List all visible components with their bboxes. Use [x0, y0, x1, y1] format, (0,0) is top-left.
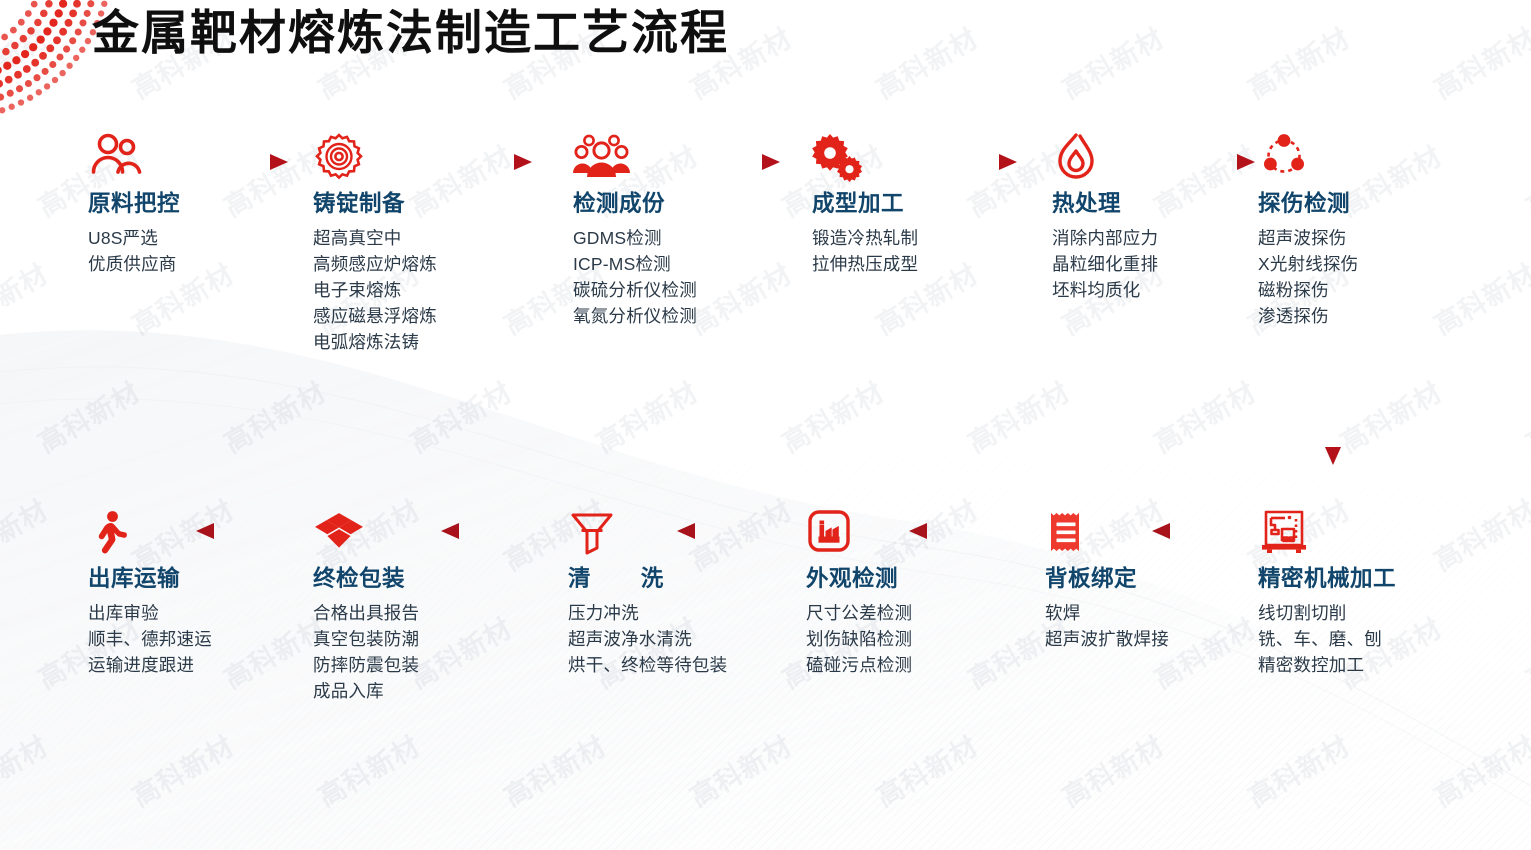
- step-detail: 超高真空中: [313, 226, 523, 252]
- step-cleaning[interactable]: 清 洗 压力冲洗 超声波净水清洗 烘干、终检等待包装: [568, 505, 778, 679]
- step-detail: 电子束熔炼: [313, 278, 523, 304]
- step-detail: 真空包装防潮: [313, 627, 523, 653]
- step-backplate-bonding[interactable]: 背板绑定 软焊 超声波扩散焊接: [1045, 505, 1255, 653]
- step-detail: 压力冲洗: [568, 601, 730, 627]
- step-title: 铸锭制备: [313, 190, 523, 217]
- walking-person-icon: [88, 505, 298, 557]
- step-detail: 感应磁悬浮熔炼: [313, 304, 523, 330]
- step-detail: 超声波扩散焊接: [1045, 627, 1255, 653]
- step-outbound-shipping[interactable]: 出库运输 出库审验 顺丰、德邦速运 运输进度跟进: [88, 505, 298, 679]
- step-title: 背板绑定: [1045, 565, 1255, 592]
- cnc-machine-icon: [1258, 505, 1468, 557]
- step-detail: 优质供应商: [88, 252, 298, 278]
- step-detail: 磕碰污点检测: [806, 653, 1016, 679]
- step-detail: 铣、车、磨、刨: [1258, 627, 1468, 653]
- step-detail: 划伤缺陷检测: [806, 627, 1016, 653]
- step-title: 成型加工: [812, 190, 1022, 217]
- step-flaw-detection[interactable]: 探伤检测 超声波探伤 X光射线探伤 磁粉探伤 渗透探伤: [1258, 130, 1468, 330]
- step-precision-machining[interactable]: 精密机械加工 线切割切削 铣、车、磨、刨 精密数控加工: [1258, 505, 1468, 679]
- step-detail: 精密数控加工: [1258, 653, 1468, 679]
- step-title: 精密机械加工: [1258, 565, 1468, 592]
- funnel-icon: [568, 505, 778, 557]
- step-detail: 高频感应炉熔炼: [313, 252, 523, 278]
- step-detail-list: 线切割切削 铣、车、磨、刨 精密数控加工: [1258, 601, 1468, 679]
- step-detail-list: 锻造冷热轧制 拉伸热压成型: [812, 226, 1022, 278]
- step-final-inspection-packaging[interactable]: 终检包装 合格出具报告 真空包装防潮 防摔防震包装 成品入库: [313, 505, 523, 705]
- step-title: 终检包装: [313, 565, 523, 592]
- step-detail: 电弧熔炼法铸: [313, 330, 523, 356]
- receipt-icon: [1045, 505, 1255, 557]
- step-title: 外观检测: [806, 565, 1016, 592]
- step-detail: 消除内部应力: [1052, 226, 1262, 252]
- arrow-right-3: [688, 150, 784, 174]
- arrow-right-1: [196, 150, 292, 174]
- step-detail: 超声波探伤: [1258, 226, 1468, 252]
- step-detail-list: 超高真空中 高频感应炉熔炼 电子束熔炼 感应磁悬浮熔炼 电弧熔炼法铸: [313, 226, 523, 355]
- step-detail: GDMS检测: [573, 226, 783, 252]
- arrow-right-4: [925, 150, 1021, 174]
- step-detail-list: 消除内部应力 晶粒细化重排 坯料均质化: [1052, 226, 1262, 304]
- step-title: 出库运输: [88, 565, 298, 592]
- step-detail: 碳硫分析仪检测: [573, 278, 783, 304]
- step-detail-list: U8S严选 优质供应商: [88, 226, 298, 278]
- step-detail: 运输进度跟进: [88, 653, 298, 679]
- open-box-icon: [313, 505, 523, 557]
- page-title: 金属靶材熔炼法制造工艺流程: [92, 6, 729, 62]
- step-detail-list: 尺寸公差检测 划伤缺陷检测 磕碰污点检测: [806, 601, 1016, 679]
- step-detail-list: 出库审验 顺丰、德邦速运 运输进度跟进: [88, 601, 298, 679]
- step-detail: 顺丰、德邦速运: [88, 627, 298, 653]
- step-detail: 软焊: [1045, 601, 1255, 627]
- step-detail: 成品入库: [313, 679, 523, 705]
- step-appearance-inspection[interactable]: 外观检测 尺寸公差检测 划伤缺陷检测 磕碰污点检测: [806, 505, 1016, 679]
- step-detail: 出库审验: [88, 601, 298, 627]
- step-detail: 防摔防震包装: [313, 653, 523, 679]
- step-detail: 线切割切削: [1258, 601, 1468, 627]
- step-detail: 烘干、终检等待包装: [568, 653, 730, 679]
- step-detail-list: 合格出具报告 真空包装防潮 防摔防震包装 成品入库: [313, 601, 523, 705]
- step-detail-list: GDMS检测 ICP-MS检测 碳硫分析仪检测 氧氮分析仪检测: [573, 226, 783, 330]
- step-detail: 尺寸公差检测: [806, 601, 1016, 627]
- step-title: 原料把控: [88, 190, 298, 217]
- step-title: 检测成份: [573, 190, 783, 217]
- step-detail: 氧氮分析仪检测: [573, 304, 783, 330]
- step-detail-list: 软焊 超声波扩散焊接: [1045, 601, 1255, 653]
- step-detail: 拉伸热压成型: [812, 252, 1022, 278]
- step-detail: 坯料均质化: [1052, 278, 1262, 304]
- step-detail-list: 压力冲洗 超声波净水清洗 烘干、终检等待包装: [568, 601, 730, 679]
- three-nodes-icon: [1258, 130, 1468, 182]
- arrow-down-connector: [1321, 373, 1345, 468]
- step-detail: 磁粉探伤: [1258, 278, 1468, 304]
- step-detail: 超声波净水清洗: [568, 627, 730, 653]
- step-detail: U8S严选: [88, 226, 298, 252]
- step-detail: 合格出具报告: [313, 601, 523, 627]
- step-detail: 锻造冷热轧制: [812, 226, 1022, 252]
- header: 金属靶材熔炼法制造工艺流程: [92, 6, 729, 62]
- process-flow-diagram: 原料把控 U8S严选 优质供应商 铸锭制备: [0, 0, 1531, 850]
- arrow-right-2: [440, 150, 536, 174]
- arrow-right-5: [1163, 150, 1259, 174]
- step-detail: X光射线探伤: [1258, 252, 1468, 278]
- factory-badge-icon: [806, 505, 1016, 557]
- step-detail: 渗透探伤: [1258, 304, 1468, 330]
- step-title: 清 洗: [568, 565, 778, 592]
- step-detail: ICP-MS检测: [573, 252, 783, 278]
- step-title: 探伤检测: [1258, 190, 1468, 217]
- step-title: 热处理: [1052, 190, 1262, 217]
- step-detail: 晶粒细化重排: [1052, 252, 1262, 278]
- step-detail-list: 超声波探伤 X光射线探伤 磁粉探伤 渗透探伤: [1258, 226, 1468, 330]
